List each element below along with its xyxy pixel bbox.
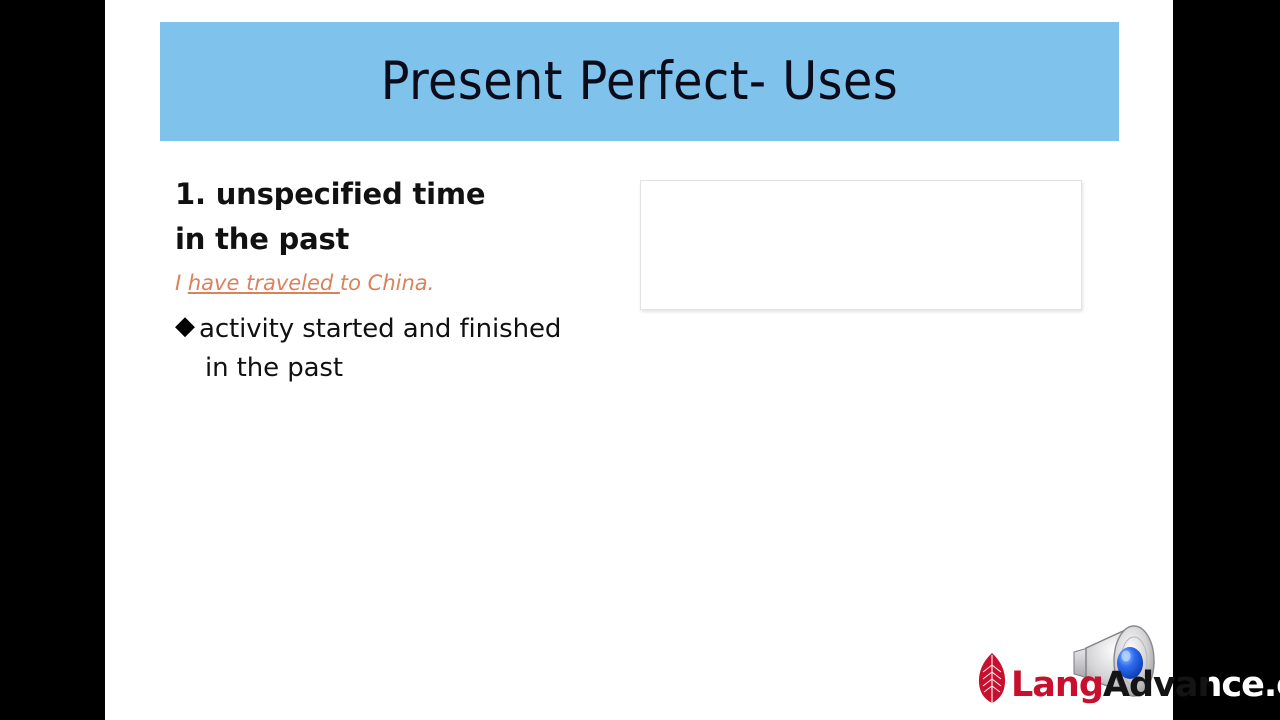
bullet-text: activity started and finished in the pas… — [199, 310, 561, 388]
bullet-line-1: activity started and finished — [199, 314, 561, 344]
leaf-icon — [975, 652, 1009, 704]
empty-content-placeholder — [640, 180, 1082, 310]
point-heading-line-2: in the past — [175, 217, 645, 262]
example-part-underlined: have traveled — [188, 271, 340, 295]
slide-title-banner: Present Perfect- Uses — [160, 22, 1119, 141]
brand-advance-text: Advance.com — [1103, 665, 1280, 705]
bullet-line-2: in the past — [199, 349, 561, 388]
example-part-3: to China. — [340, 271, 434, 295]
example-sentence: I have traveled to China. — [175, 271, 645, 296]
point-heading-line-1: 1. unspecified time — [175, 172, 645, 217]
brand-watermark: LangAdvance.com LangAdvance.com udemy — [975, 648, 1280, 708]
slide-body-column: 1. unspecified time in the past I have t… — [175, 172, 645, 388]
example-part-1: I — [175, 271, 188, 295]
brand-lang-text: Lang — [1011, 665, 1103, 705]
video-player-stage: Present Perfect- Uses 1. unspecified tim… — [0, 0, 1280, 720]
slide-title: Present Perfect- Uses — [381, 55, 898, 108]
brand-wordmark: LangAdvance.com LangAdvance.com udemy — [1011, 654, 1280, 703]
bullet-item: ◆ activity started and finished in the p… — [175, 310, 645, 388]
diamond-bullet-icon: ◆ — [175, 310, 195, 341]
slide-canvas: Present Perfect- Uses 1. unspecified tim… — [105, 0, 1173, 720]
